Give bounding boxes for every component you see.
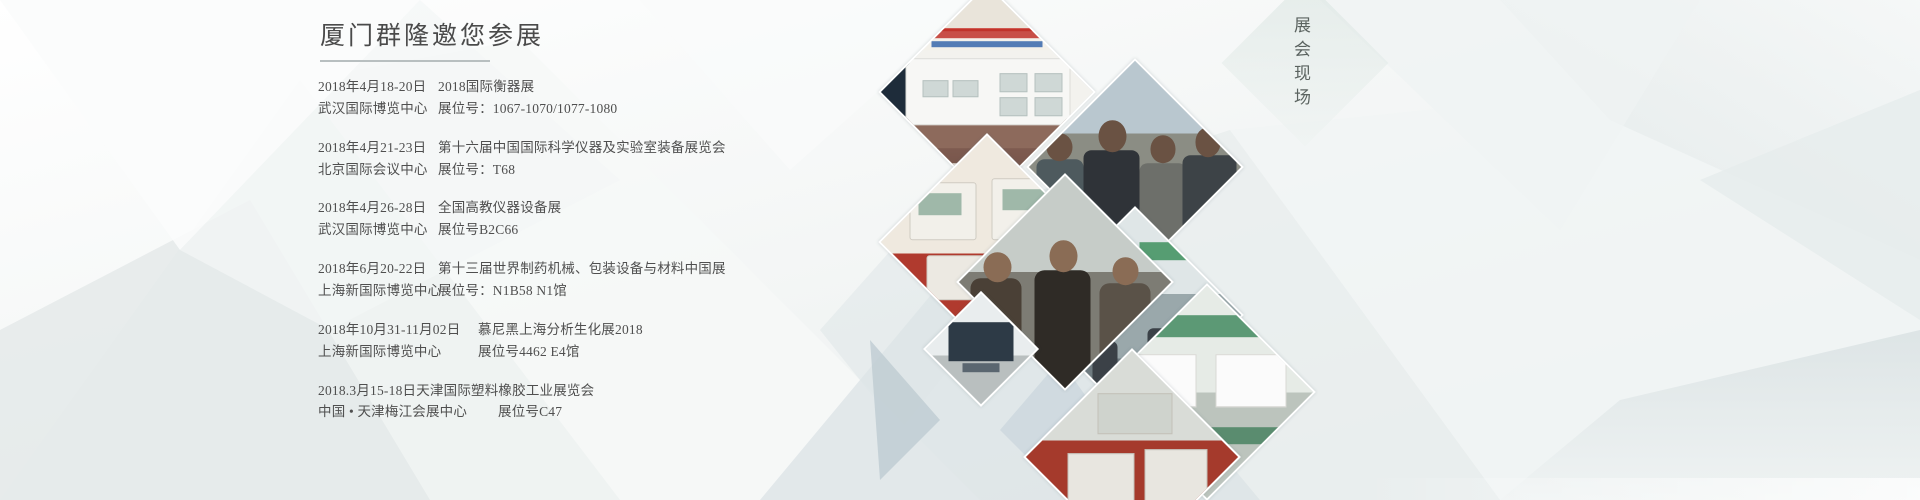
exhibition-banner: 展会现场 厦门群隆邀您参展 2018年4月18-20日 2018国际衡器展 武汉… [0, 0, 1920, 500]
event-booth: 展位号：T68 [438, 159, 515, 181]
event-name: 全国高教仪器设备展 [438, 197, 561, 219]
event-item[interactable]: 2018年4月26-28日 全国高教仪器设备展 武汉国际博览中心 展位号B2C6… [318, 197, 1078, 241]
event-date: 2018年10月31-11月02日 [318, 319, 478, 341]
event-venue: 上海新国际博览中心 [318, 341, 478, 363]
event-date: 2018.3月15-18日天津国际塑料橡胶工业展览会 [318, 380, 594, 402]
event-venue: 武汉国际博览中心 [318, 98, 438, 120]
event-date: 2018年4月26-28日 [318, 197, 438, 219]
event-venue: 中国 • 天津梅江会展中心 [318, 401, 498, 423]
side-label-text: 展会现场 [1288, 16, 1313, 112]
bottom-right-strip [1360, 478, 1920, 500]
event-item[interactable]: 2018年6月20-22日 第十三届世界制药机械、包装设备与材料中国展 上海新国… [318, 258, 1078, 302]
event-booth: 展位号：N1B58 N1馆 [438, 280, 567, 302]
event-booth: 展位号C47 [498, 401, 562, 423]
event-date: 2018年6月20-22日 [318, 258, 438, 280]
event-name: 第十三届世界制药机械、包装设备与材料中国展 [438, 258, 726, 280]
event-item[interactable]: 2018.3月15-18日天津国际塑料橡胶工业展览会 中国 • 天津梅江会展中心… [318, 380, 1078, 424]
event-name: 第十六届中国国际科学仪器及实验室装备展览会 [438, 137, 726, 159]
event-booth: 展位号：1067-1070/1077-1080 [438, 98, 617, 120]
event-venue: 上海新国际博览中心 [318, 280, 438, 302]
event-date: 2018年4月18-20日 [318, 76, 438, 98]
event-booth: 展位号4462 E4馆 [478, 341, 580, 363]
event-name: 2018国际衡器展 [438, 76, 534, 98]
event-name: 慕尼黑上海分析生化展2018 [478, 319, 643, 341]
event-venue: 北京国际会议中心 [318, 159, 438, 181]
event-item[interactable]: 2018年4月21-23日 第十六届中国国际科学仪器及实验室装备展览会 北京国际… [318, 137, 1078, 181]
event-venue: 武汉国际博览中心 [318, 219, 438, 241]
title-underline [320, 60, 490, 62]
page-title: 厦门群隆邀您参展 [320, 22, 1078, 52]
event-list-panel: 厦门群隆邀您参展 2018年4月18-20日 2018国际衡器展 武汉国际博览中… [318, 22, 1078, 492]
event-item[interactable]: 2018年10月31-11月02日 慕尼黑上海分析生化展2018 上海新国际博览… [318, 319, 1078, 363]
event-booth: 展位号B2C66 [438, 219, 518, 241]
event-item[interactable]: 2018年4月18-20日 2018国际衡器展 武汉国际博览中心 展位号：106… [318, 76, 1078, 120]
event-date: 2018年4月21-23日 [318, 137, 438, 159]
